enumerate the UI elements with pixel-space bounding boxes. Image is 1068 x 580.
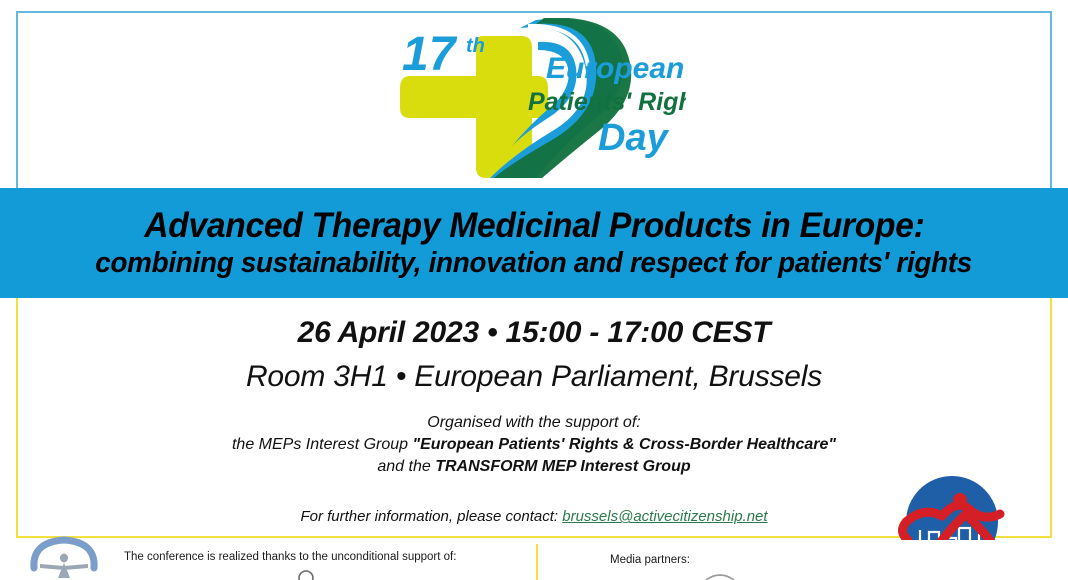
event-poster: 17 th European Patients' Rights Day Adva… <box>0 0 1068 580</box>
cittadinanzattiva-figure-logo <box>24 534 116 580</box>
organised-group-1: the MEPs Interest Group "European Patien… <box>0 434 1068 456</box>
poster-header: 17 th European Patients' Rights Day <box>0 0 1068 188</box>
event-datetime: 26 April 2023 • 15:00 - 17:00 CEST <box>0 316 1068 350</box>
running-figure-head <box>953 493 967 507</box>
supporter-logo-placeholder <box>284 566 328 580</box>
media-partners-label: Media partners: <box>610 554 690 566</box>
figure-shape <box>40 554 88 579</box>
banner-title: Advanced Therapy Medicinal Products in E… <box>144 207 924 244</box>
organised-group-1-prefix: the MEPs Interest Group <box>232 436 413 453</box>
event-venue: Room 3H1 • European Parliament, Brussels <box>0 360 1068 394</box>
footer-divider <box>536 544 538 580</box>
contact-prefix: For further information, please contact: <box>300 508 562 525</box>
banner-subtitle: combining sustainability, innovation and… <box>96 247 973 279</box>
media-partner-logo-placeholder <box>700 568 740 580</box>
logo-line-patients-rights: Patients' Rights <box>528 88 686 116</box>
logo-ordinal-number: 17 <box>402 28 458 81</box>
logo-ordinal-suffix: th <box>466 35 485 57</box>
contact-email-link[interactable]: brussels@activecitizenship.net <box>562 508 767 525</box>
title-banner: Advanced Therapy Medicinal Products in E… <box>0 188 1068 298</box>
organisers-block: Organised with the support of: the MEPs … <box>0 412 1068 478</box>
logo-line-european: European <box>546 52 684 85</box>
logo-line-day: Day <box>598 117 670 159</box>
organised-group-2-name: TRANSFORM MEP Interest Group <box>435 458 690 475</box>
european-patients-rights-day-logo: 17 th European Patients' Rights Day <box>386 18 686 178</box>
organised-group-1-name: "European Patients' Rights & Cross-Borde… <box>413 436 837 453</box>
organised-intro: Organised with the support of: <box>0 412 1068 434</box>
organised-group-2-prefix: and the <box>377 458 435 475</box>
support-label: The conference is realized thanks to the… <box>124 551 456 563</box>
